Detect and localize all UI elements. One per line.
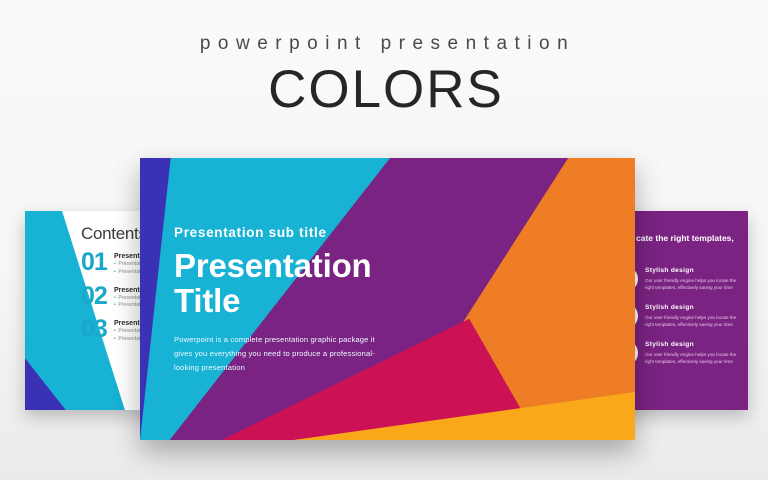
feature-body: Stylish design Our user friendly engine … bbox=[645, 340, 743, 365]
feature-description: Our user friendly engine helps you locat… bbox=[645, 351, 743, 365]
main-slide-title: Presentation Title bbox=[174, 248, 409, 319]
main-slide-title-line1: Presentation bbox=[174, 247, 372, 284]
main-slide-paragraph: Powerpoint is a complete presentation gr… bbox=[174, 333, 379, 375]
toc-number: 02 bbox=[81, 285, 114, 308]
feature-title: Stylish design bbox=[645, 267, 743, 275]
feature-body: Stylish design Our user friendly engine … bbox=[645, 303, 743, 328]
feature-title: Stylish design bbox=[645, 304, 743, 312]
heading-kicker: powerpoint presentation bbox=[0, 34, 768, 53]
toc-number: 01 bbox=[81, 251, 114, 274]
page-title: COLORS bbox=[0, 63, 768, 117]
right-slide-heading: cate the right templates, bbox=[636, 233, 743, 243]
slide-thumbnail-title-main[interactable]: Presentation sub title Presentation Titl… bbox=[140, 158, 635, 440]
toc-number: 03 bbox=[81, 318, 114, 341]
feature-description: Our user friendly engine helps you locat… bbox=[645, 314, 743, 328]
presentation-preview-canvas: powerpoint presentation COLORS Contents … bbox=[0, 0, 768, 480]
feature-body: Stylish design Our user friendly engine … bbox=[645, 266, 743, 291]
page-heading: powerpoint presentation COLORS bbox=[0, 34, 768, 117]
feature-description: Our user friendly engine helps you locat… bbox=[645, 277, 743, 291]
main-slide-text-block: Presentation sub title Presentation Titl… bbox=[174, 226, 409, 375]
main-slide-title-line2: Title bbox=[174, 282, 240, 319]
main-slide-subtitle: Presentation sub title bbox=[174, 226, 409, 240]
feature-title: Stylish design bbox=[645, 341, 743, 349]
